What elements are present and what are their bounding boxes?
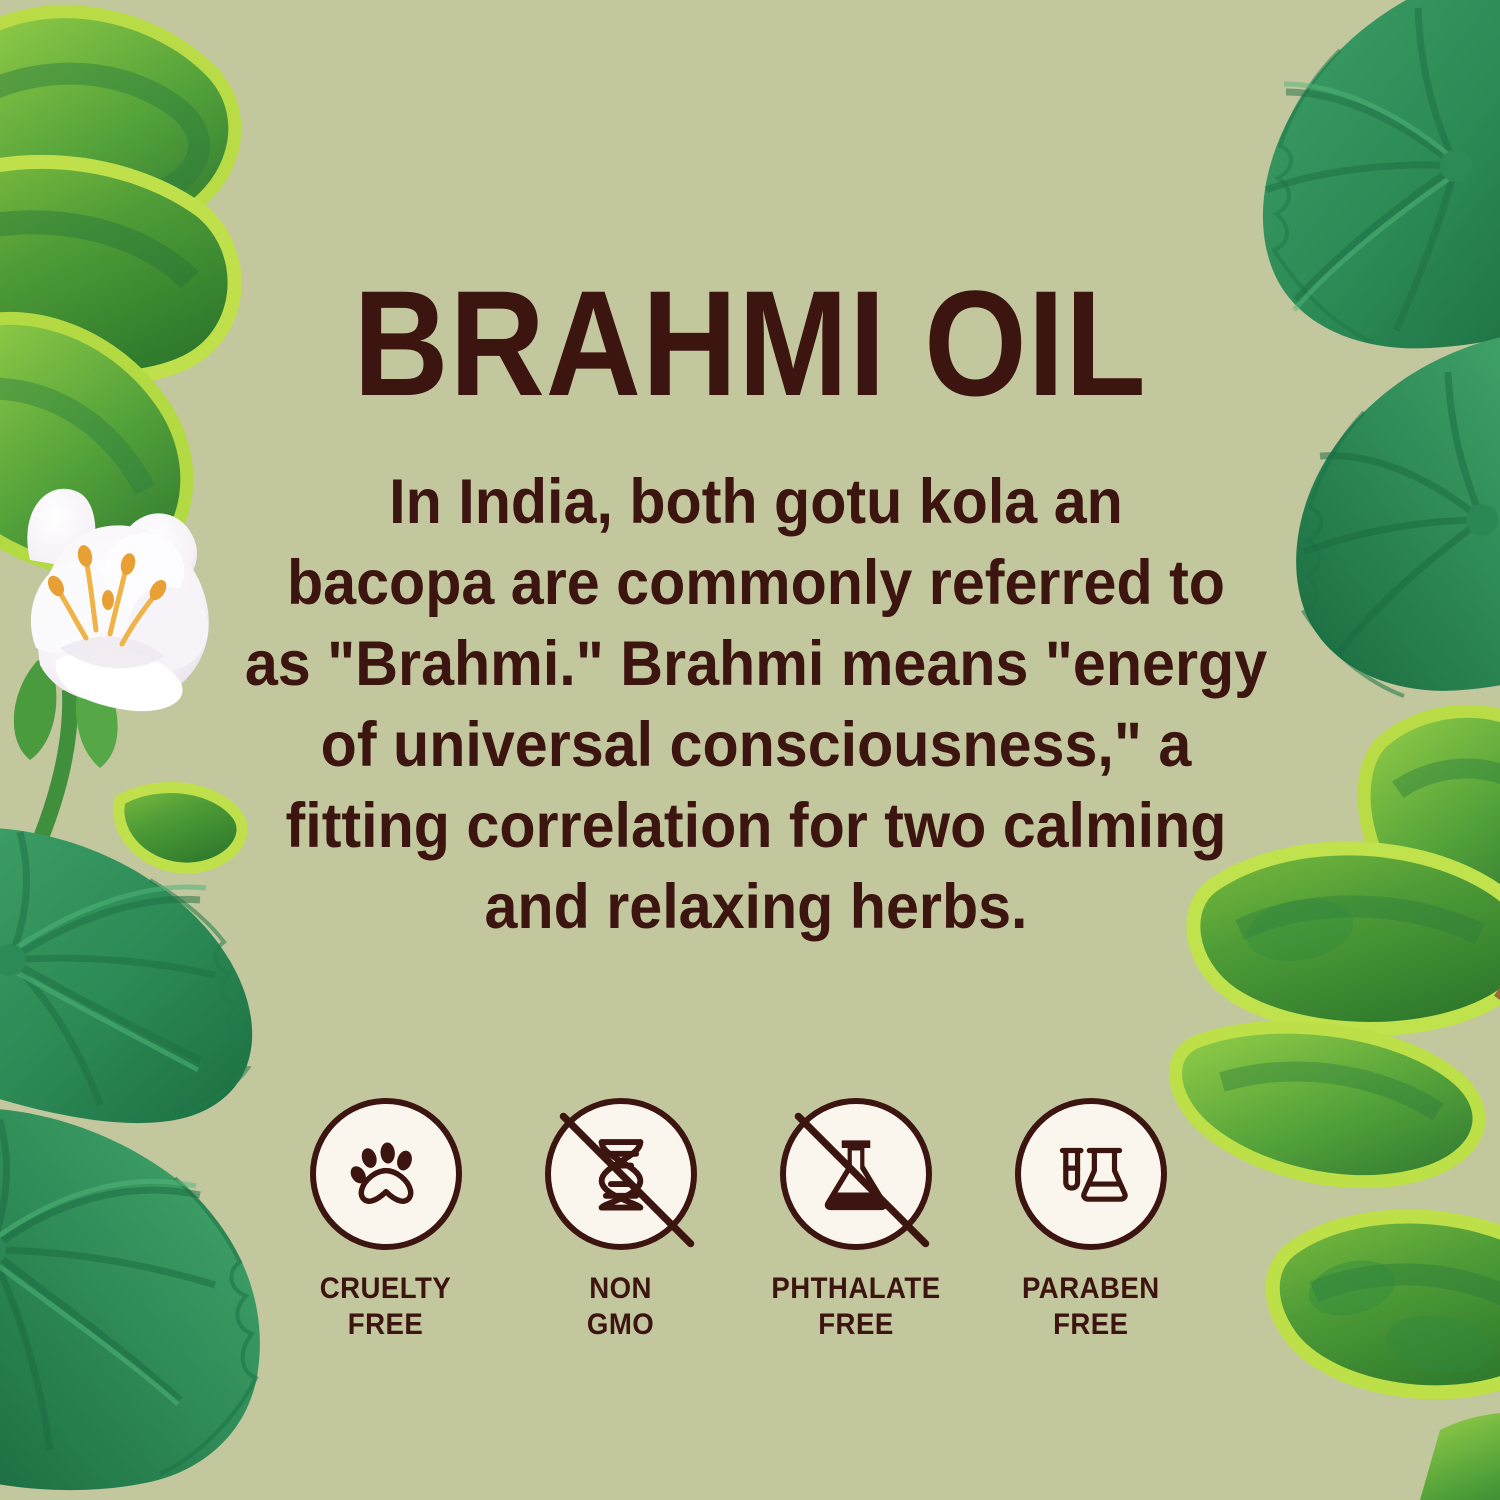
badge-label-line1: PHTHALATE — [771, 1271, 940, 1307]
paragraph-line: as "Brahmi." Brahmi means "energy — [230, 624, 1283, 705]
paragraph-line: and relaxing herbs. — [230, 867, 1283, 948]
paragraph-line: of universal consciousness," a — [230, 705, 1283, 786]
badge-label: CRUELTY FREE — [320, 1271, 452, 1343]
badge-circle — [780, 1098, 932, 1250]
badge-phthalate-free: PHTHALATE FREE — [738, 1098, 973, 1343]
badge-label-line2: GMO — [587, 1307, 654, 1343]
flask-filled-icon — [814, 1132, 898, 1216]
badge-non-gmo: NON GMO — [503, 1098, 738, 1343]
paragraph-line: bacopa are commonly referred to — [230, 543, 1283, 624]
paragraph-line: In India, both gotu kola an — [230, 462, 1283, 543]
dna-helix-icon — [579, 1132, 663, 1216]
badge-circle — [1015, 1098, 1167, 1250]
test-tube-flask-icon — [1049, 1132, 1133, 1216]
badge-label-line2: FREE — [771, 1307, 940, 1343]
badge-circle — [310, 1098, 462, 1250]
badge-circle — [545, 1098, 697, 1250]
page-title: BRAHMI OIL — [90, 268, 1410, 418]
product-infographic: BRAHMI OIL In India, both gotu kola an b… — [0, 0, 1500, 1500]
badge-label: PHTHALATE FREE — [771, 1271, 940, 1343]
badge-label-line2: FREE — [320, 1307, 452, 1343]
description-paragraph: In India, both gotu kola an bacopa are c… — [230, 462, 1283, 948]
certification-badge-row: CRUELTY FREE — [268, 1098, 1208, 1343]
paragraph-line: fitting correlation for two calming — [230, 786, 1283, 867]
badge-label: PARABEN FREE — [1022, 1271, 1160, 1343]
badge-cruelty-free: CRUELTY FREE — [268, 1098, 503, 1343]
badge-label-line1: NON — [587, 1271, 654, 1307]
badge-paraben-free: PARABEN FREE — [973, 1098, 1208, 1343]
badge-label: NON GMO — [587, 1271, 654, 1343]
badge-label-line1: PARABEN — [1022, 1271, 1160, 1307]
badge-label-line1: CRUELTY — [320, 1271, 452, 1307]
badge-label-line2: FREE — [1022, 1307, 1160, 1343]
paw-print-icon — [344, 1132, 428, 1216]
